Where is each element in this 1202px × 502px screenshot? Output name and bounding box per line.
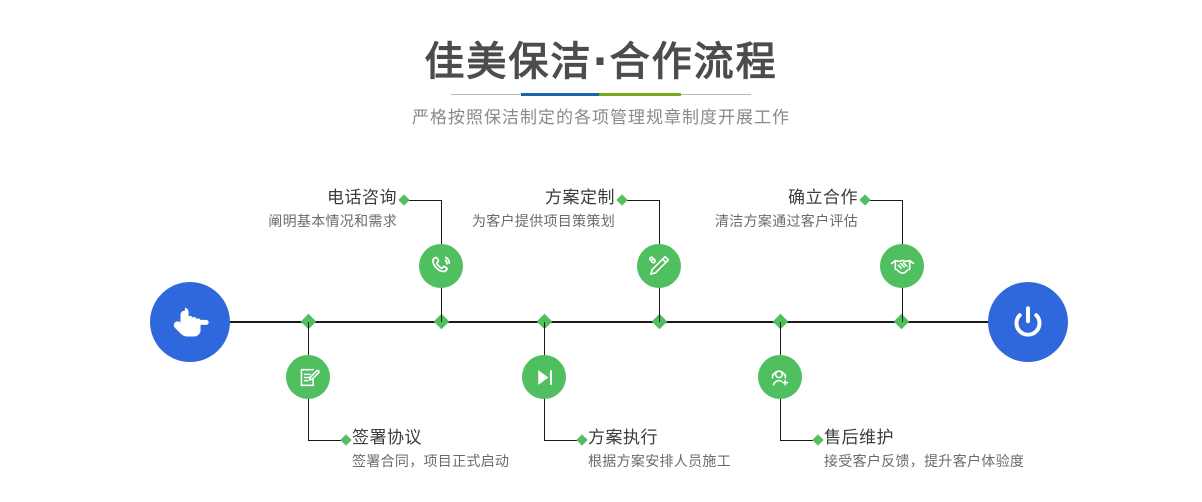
connector-endpoint-step-2 <box>340 434 351 445</box>
connector-endpoint-step-6 <box>812 434 823 445</box>
divider-segment-blue <box>521 93 599 96</box>
step-label-5: 确立合作 清洁方案通过客户评估 <box>640 186 858 234</box>
connector-endpoint-step-4 <box>576 434 587 445</box>
step-icon-6[interactable] <box>758 355 802 399</box>
connector-hline-step-5 <box>867 200 903 201</box>
connector-endpoint-step-5 <box>859 194 870 205</box>
connector-hline-step-4 <box>544 440 580 441</box>
step-desc-4: 根据方案安排人员施工 <box>588 450 731 474</box>
sign-document-icon <box>296 365 321 390</box>
step-title-1: 电话咨询 <box>150 186 397 210</box>
play-execute-icon <box>532 365 557 390</box>
step-label-6: 售后维护 接受客户反馈，提升客户体验度 <box>824 426 1024 474</box>
timeline-start-cap <box>150 282 230 362</box>
step-icon-2[interactable] <box>286 355 330 399</box>
timeline-end-cap <box>988 282 1068 362</box>
step-icon-1[interactable] <box>419 244 463 288</box>
connector-hline-step-2 <box>308 440 344 441</box>
connector-endpoint-step-3 <box>616 194 627 205</box>
power-icon <box>1005 299 1051 345</box>
page-title: 佳美保洁·合作流程 <box>0 38 1202 86</box>
step-desc-2: 签署合同，项目正式启动 <box>352 450 509 474</box>
step-title-4: 方案执行 <box>588 426 731 450</box>
title-divider <box>451 93 751 96</box>
step-desc-6: 接受客户反馈，提升客户体验度 <box>824 450 1024 474</box>
customer-support-add-icon <box>768 365 793 390</box>
step-icon-3[interactable] <box>637 244 681 288</box>
pencil-edit-icon <box>646 253 672 279</box>
divider-segment-green <box>599 93 681 96</box>
step-title-3: 方案定制 <box>390 186 615 210</box>
step-label-4: 方案执行 根据方案安排人员施工 <box>588 426 731 474</box>
step-title-2: 签署协议 <box>352 426 509 450</box>
step-label-2: 签署协议 签署合同，项目正式启动 <box>352 426 509 474</box>
step-label-3: 方案定制 为客户提供项目策策划 <box>390 186 615 234</box>
step-label-1: 电话咨询 阐明基本情况和需求 <box>150 186 397 234</box>
page-subtitle: 严格按照保洁制定的各项管理规章制度开展工作 <box>0 105 1202 131</box>
step-title-5: 确立合作 <box>640 186 858 210</box>
step-icon-5[interactable] <box>880 244 924 288</box>
step-desc-3: 为客户提供项目策策划 <box>390 210 615 234</box>
connector-hline-step-6 <box>780 440 816 441</box>
process-flow-infographic: 佳美保洁·合作流程 严格按照保洁制定的各项管理规章制度开展工作 <box>0 0 1202 502</box>
pointing-hand-icon <box>167 299 213 345</box>
handshake-icon <box>889 253 916 280</box>
step-icon-4[interactable] <box>522 355 566 399</box>
step-title-6: 售后维护 <box>824 426 1024 450</box>
phone-call-icon <box>428 253 454 279</box>
step-desc-5: 清洁方案通过客户评估 <box>640 210 858 234</box>
step-desc-1: 阐明基本情况和需求 <box>150 210 397 234</box>
